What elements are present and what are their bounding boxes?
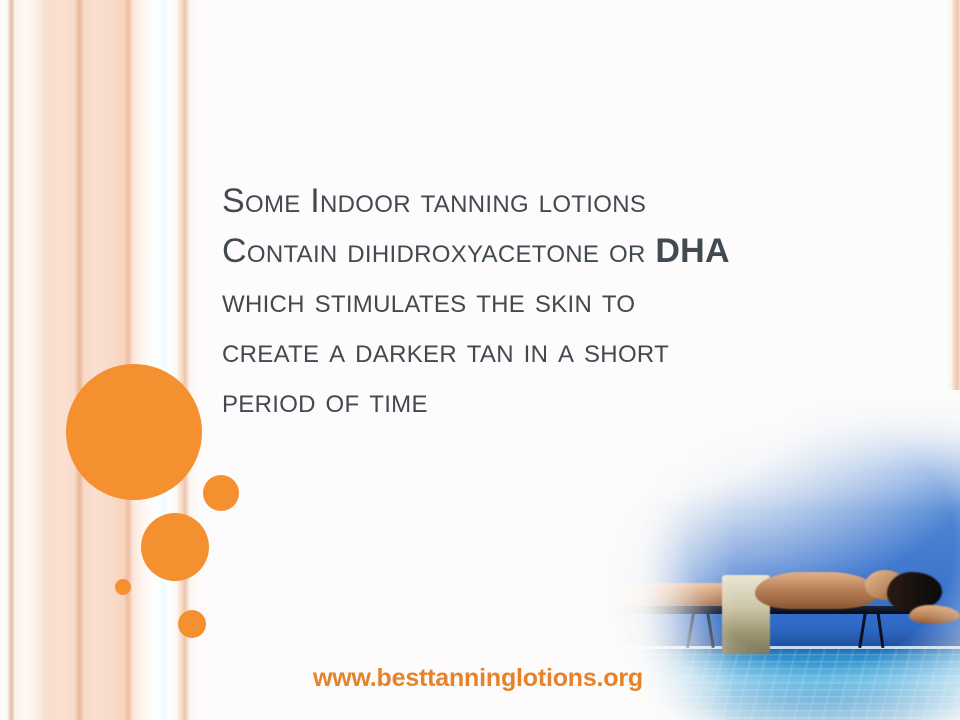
decorative-circle-tiny-bottom [178, 610, 206, 638]
decorative-circle-tiny-left [115, 579, 131, 595]
headline-line-5: period of time [222, 376, 902, 426]
decorative-circle-medium [141, 513, 209, 581]
left-vertical-stripe-band [0, 0, 200, 720]
headline-line-2-text: Contain dihidroxyacetone or [222, 232, 655, 270]
slide-canvas: Some Indoor tanning lotions Contain dihi… [0, 0, 960, 720]
decorative-circle-small-right [203, 475, 239, 511]
headline-line-4: create a darker tan in a short [222, 326, 902, 376]
photo-horizon-line [594, 646, 960, 649]
photo-water [594, 647, 960, 720]
photo-figure-torso [755, 572, 879, 610]
headline-line-1: Some Indoor tanning lotions [222, 176, 902, 226]
headline-emphasis-dha: DHA [655, 232, 730, 270]
headline-text: Some Indoor tanning lotions Contain dihi… [222, 176, 902, 426]
headline-line-3: which stimulates the skin to [222, 276, 902, 326]
site-url[interactable]: www.besttanninglotions.org [313, 664, 643, 693]
sunbather-photo [594, 390, 960, 720]
decorative-circle-large [66, 364, 202, 500]
headline-line-2: Contain dihidroxyacetone or DHA [222, 226, 902, 276]
